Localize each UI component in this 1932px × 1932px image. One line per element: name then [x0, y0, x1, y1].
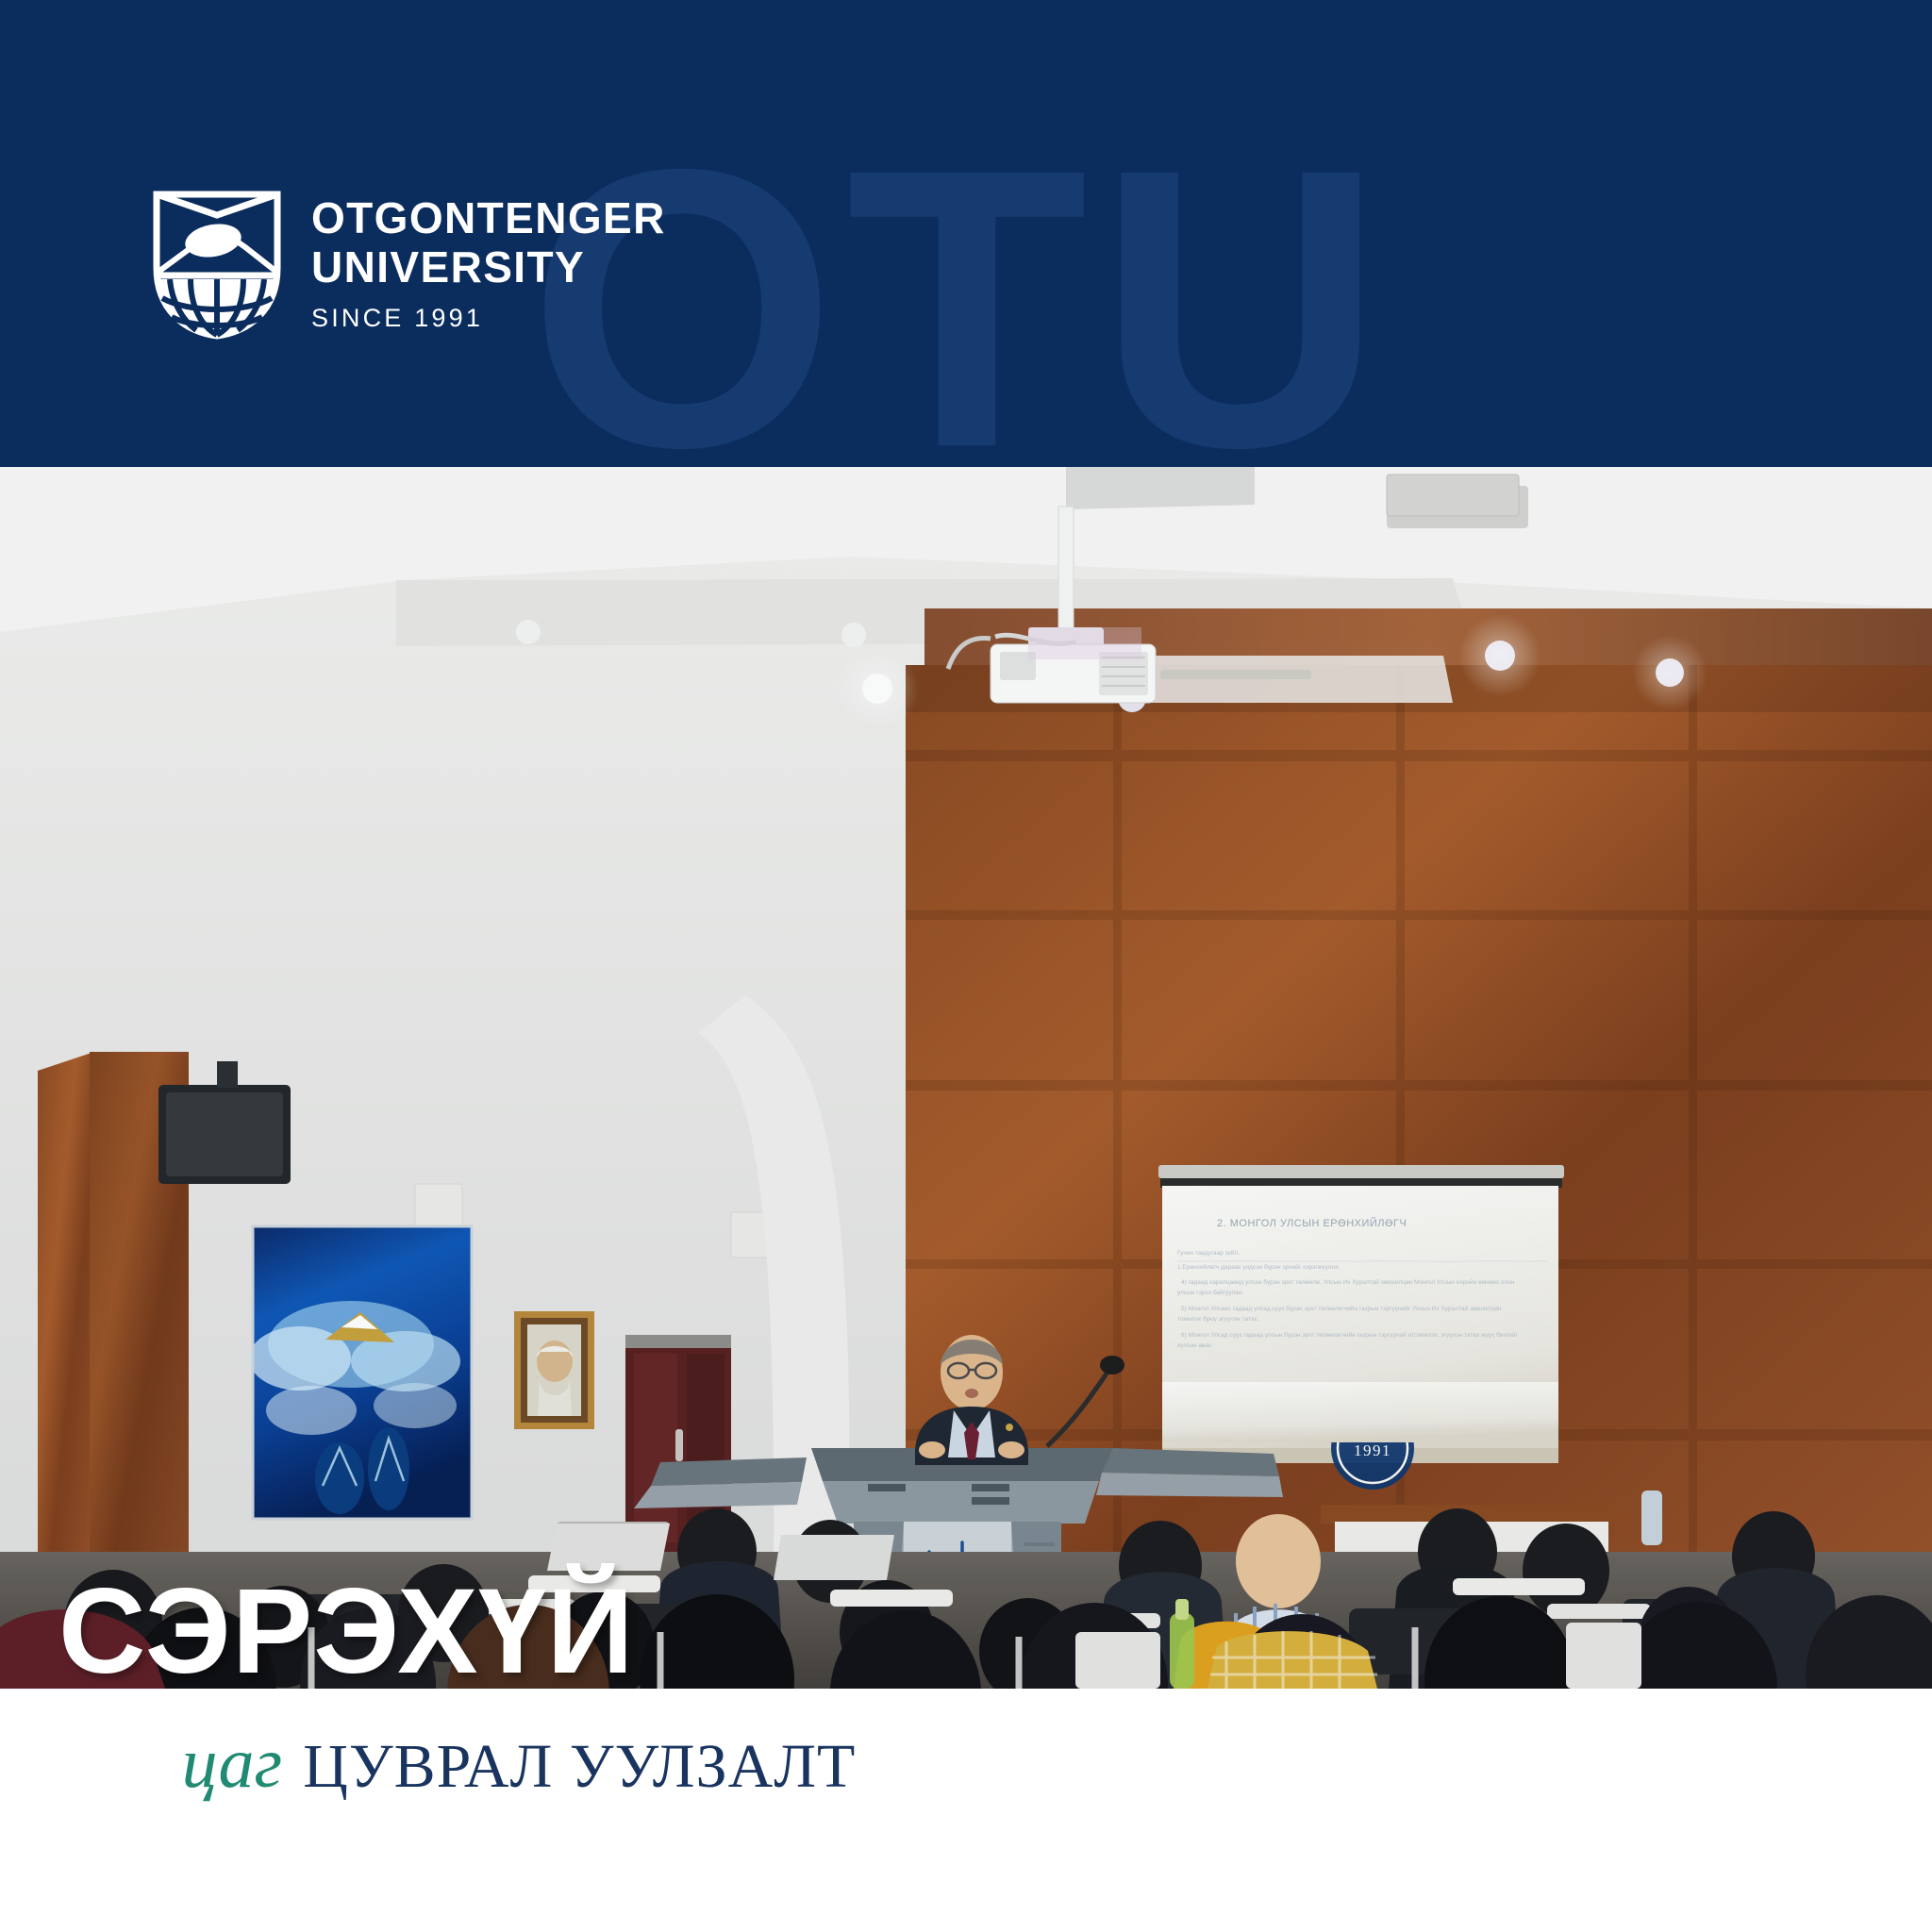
logo-name-line-2: UNIVERSITY	[311, 243, 666, 292]
header-banner: OTU	[0, 0, 1932, 467]
headline-serekhui: СЭРЭХҮЙ	[58, 1572, 635, 1692]
university-logo-text: OTGONTENGER UNIVERSITY SINCE 1991	[311, 189, 666, 333]
subheadline-italic-tsag: цаг	[182, 1724, 283, 1803]
university-logo-block: OTGONTENGER UNIVERSITY SINCE 1991	[151, 189, 666, 340]
lecture-hall-photo: 2. МОНГОЛ УЛСЫН ЕРӨНХИЙЛӨГЧ Гучин тавдуг…	[0, 467, 1932, 1689]
otgontenger-shield-globe-logo-icon	[151, 189, 283, 340]
logo-name-line-1: OTGONTENGER	[311, 194, 666, 243]
poster-canvas: OTU	[0, 0, 1932, 1932]
subheadline-main-tsuvral-uulzalt: ЦУВРАЛ УУЛЗАЛТ	[303, 1732, 856, 1801]
logo-since-label: SINCE 1991	[311, 304, 666, 333]
subheadline-group: цагЦУВРАЛ УУЛЗАЛТ	[0, 1723, 1038, 1805]
